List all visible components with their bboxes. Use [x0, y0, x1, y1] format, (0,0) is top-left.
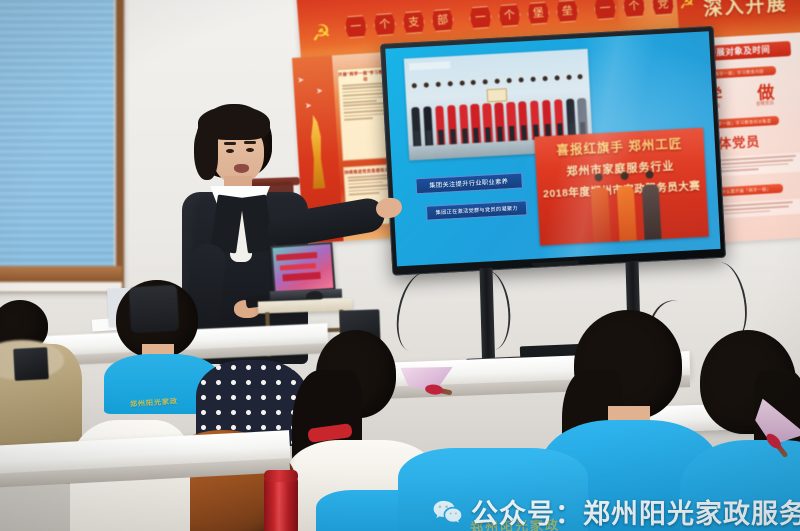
- wrapped-flower-bouquet: [401, 364, 456, 412]
- banner-char: 一: [593, 0, 617, 20]
- event-banner-line-1: 喜报红旗手 郑州工匠: [540, 132, 699, 160]
- slide-photo-logo: [409, 61, 450, 70]
- window-sill-trim: [0, 282, 122, 292]
- tv-screen[interactable]: 喜报红旗手 郑州工匠 郑州市家庭服务行业 2018年度郑州市家政服务员大赛 集团…: [385, 31, 720, 266]
- desktop-monitor-left: [13, 347, 49, 381]
- event-person: [587, 170, 614, 243]
- award-plaque-icon: [487, 88, 508, 102]
- presenter-hair-side: [194, 126, 218, 180]
- bouquet-ribbon: [425, 384, 444, 396]
- laptop-screen-content: [273, 244, 334, 292]
- banner-char: 垒: [556, 0, 580, 23]
- party-emblem-icon: ☭: [678, 0, 695, 14]
- event-person: [612, 168, 639, 241]
- poster-right-top-title: 深入开展: [702, 0, 788, 21]
- banner-char: 个: [622, 0, 646, 18]
- watermark-text: 公众号：郑州阳光家政服务公司: [471, 492, 800, 531]
- thermos-cap: [264, 470, 298, 482]
- banner-char: 部: [431, 9, 455, 33]
- party-emblem-icon: ☭: [310, 21, 338, 47]
- photo-person: [575, 73, 589, 137]
- presenter-mouth: [234, 164, 249, 173]
- poster-right-sub-2: 合格党员: [756, 100, 774, 107]
- banner-char: 一: [344, 15, 368, 39]
- presenter-eye: [226, 149, 234, 153]
- chair-back: [129, 285, 179, 333]
- red-thermos-bottle: [264, 476, 298, 531]
- banner-char: 个: [373, 13, 397, 37]
- slide-bullet-2: 集团正在激活党群与党员的凝聚力: [426, 200, 527, 221]
- presenter-eye: [246, 148, 254, 152]
- window-blind: [0, 0, 116, 272]
- presenter-brow: [244, 141, 256, 144]
- window-sill: [0, 266, 122, 282]
- banner-char: 堡: [527, 2, 551, 26]
- slide-event-photo: 喜报红旗手 郑州工匠 郑州市家庭服务行业 2018年度郑州市家政服务员大赛: [534, 128, 708, 246]
- presenter-brow: [224, 142, 236, 145]
- wechat-icon: [432, 499, 462, 525]
- event-photo-people: [587, 167, 665, 243]
- event-person: [638, 167, 665, 240]
- screenshot-root: ☭ 一 个 支 部 一 个 堡 垒 一 个 党 员 一 面 旗 帜 不忘初心 牢…: [0, 0, 800, 531]
- laptop-screen[interactable]: [270, 242, 335, 294]
- banner-char: 一: [469, 6, 493, 30]
- banner-char: 支: [402, 11, 426, 35]
- presentation-display[interactable]: 喜报红旗手 郑州工匠 郑州市家庭服务行业 2018年度郑州市家政服务员大赛 集团…: [380, 26, 726, 276]
- banner-char: 个: [498, 4, 522, 28]
- dove-icon: ➤: [316, 86, 323, 95]
- banner-char: 党: [651, 0, 675, 16]
- watermark: 公众号：郑州阳光家政服务公司: [432, 492, 800, 531]
- slide-bullet-1: 集团关注提升行业职业素养: [415, 172, 523, 194]
- dove-icon: ➤: [297, 75, 304, 84]
